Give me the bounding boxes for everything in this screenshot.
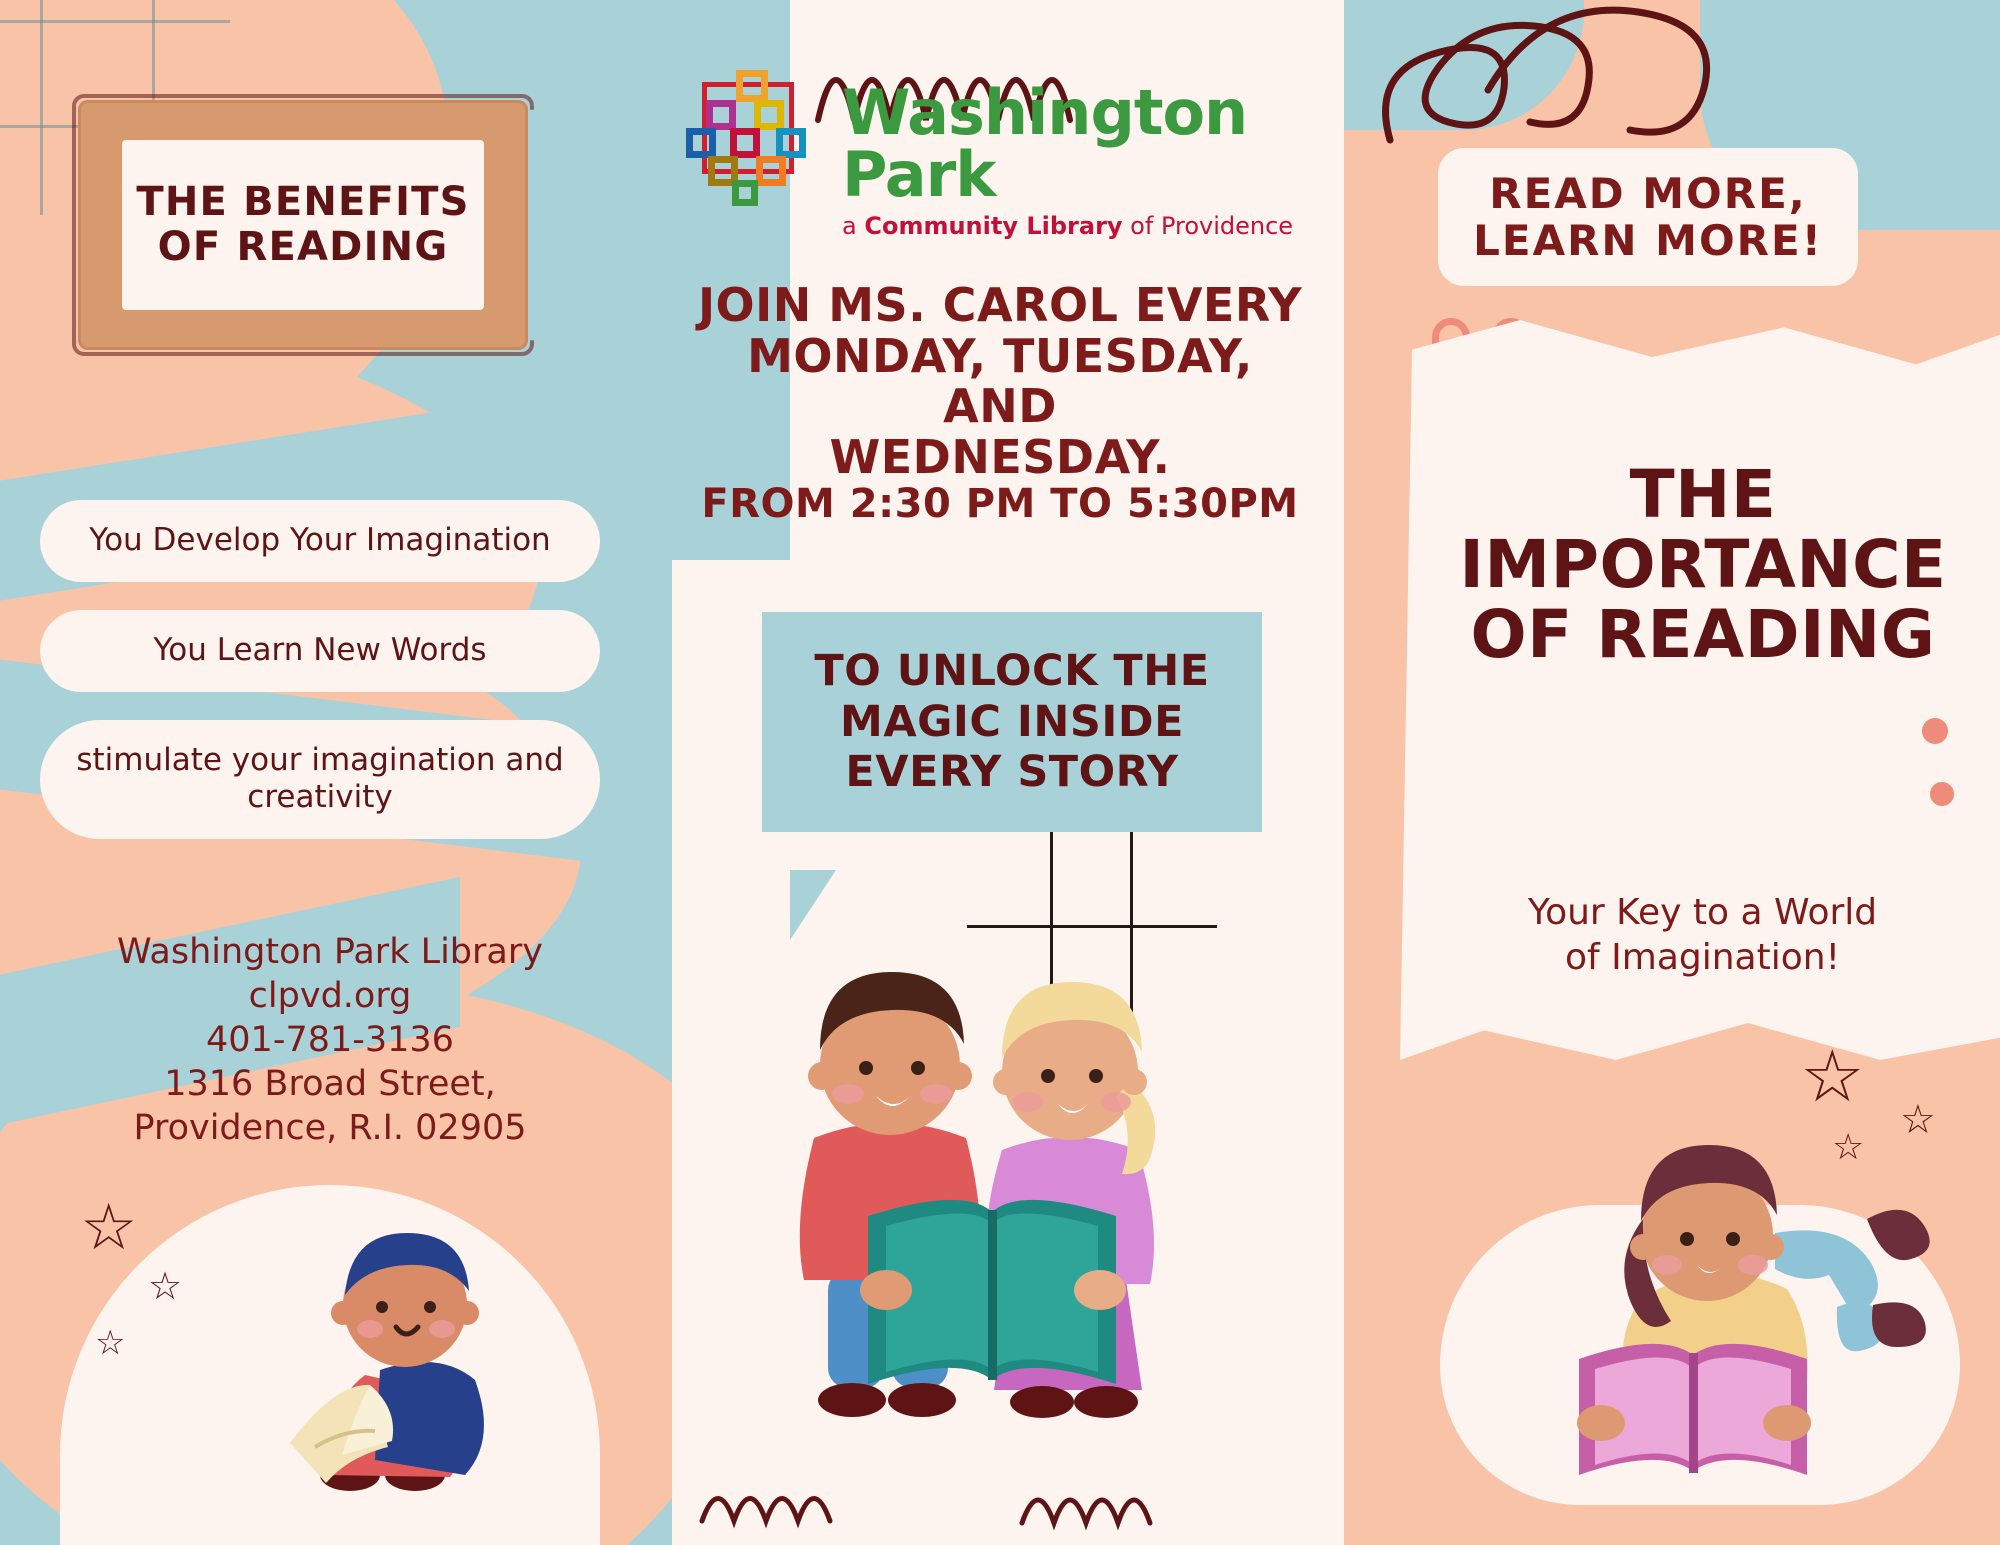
benefits-heading: THE BENEFITS OF READING [136,180,469,270]
brand-tagline: a Community Library of Providence [842,212,1330,240]
accent-dot [1922,718,1948,744]
schedule-block: JOIN MS. CAROL EVERY MONDAY, TUESDAY, AN… [690,280,1310,526]
tagline-bold: Community Library [864,212,1122,240]
read-more-badge: READ MORE, LEARN MORE! [1438,148,1858,286]
importance-heading-line1: THE [1418,460,1988,530]
library-website[interactable]: clpvd.org [40,974,620,1018]
importance-heading: THE IMPORTANCE OF READING [1418,460,1988,670]
library-name: Washington Park Library [40,930,620,974]
benefits-heading-line1: THE BENEFITS [136,180,469,225]
benefit-item: You Learn New Words [40,610,600,692]
tagline-prefix: a [842,212,864,240]
importance-subtitle-line2: of Imagination! [1430,935,1975,980]
mosaic-square [732,180,758,206]
bubble-line-1: TO UNLOCK THE [790,646,1234,697]
mosaic-square [776,128,806,158]
coil-doodle [1360,0,1780,160]
benefit-label: You Learn New Words [153,632,486,670]
schedule-line-1: JOIN MS. CAROL EVERY [690,280,1310,331]
star-icon: ☆ [148,1267,182,1305]
importance-subtitle-line1: Your Key to a World [1430,890,1975,935]
brand-name: Washington Park [842,82,1330,206]
schedule-line-4: FROM 2:30 PM TO 5:30PM [690,482,1310,526]
star-icon: ☆ [1900,1100,1936,1140]
schedule-line-3: WEDNESDAY. [690,432,1310,483]
frame-inner: THE BENEFITS OF READING [122,140,484,310]
mosaic-square [686,128,716,158]
squiggle-doodle [692,1461,1332,1541]
star-icon: ☆ [80,1196,137,1260]
mosaic-square [736,70,768,102]
colored-squares-mosaic-icon [690,70,818,198]
speech-bubble: TO UNLOCK THE MAGIC INSIDE EVERY STORY [762,612,1262,832]
benefit-item: You Develop Your Imagination [40,500,600,582]
tagline-suffix: of Providence [1123,212,1294,240]
benefit-label: stimulate your imagination and creativit… [74,742,566,818]
mosaic-square [754,100,784,130]
girl-reading-on-cloud-illustration [1475,1123,1945,1493]
library-phone[interactable]: 401-781-3136 [40,1018,620,1062]
library-city-state-zip: Providence, R.I. 02905 [40,1106,620,1150]
grid-doodle-line [0,20,230,23]
boy-reading-illustration [230,1175,570,1505]
badge-line-2: LEARN MORE! [1473,216,1823,265]
mosaic-square [730,128,760,158]
schedule-line-2: MONDAY, TUESDAY, AND [690,331,1310,432]
brochure-poster: ☆ ☆ ☆ THE BENEFITS OF READING You Develo… [0,0,2000,1545]
brand-text: Washington Park a Community Library of P… [842,82,1330,240]
grid-doodle-line [40,0,43,215]
mosaic-square [756,156,786,186]
badge-line-1: READ MORE, [1489,169,1807,218]
importance-heading-line3: OF READING [1418,600,1988,670]
benefits-heading-line2: OF READING [136,225,469,270]
accent-dot [1930,782,1954,806]
left-panel: ☆ ☆ ☆ THE BENEFITS OF READING You Develo… [0,0,672,1545]
importance-heading-line2: IMPORTANCE [1418,530,1988,600]
star-icon: ☆ [1832,1130,1864,1166]
benefit-item: stimulate your imagination and creativit… [40,720,600,840]
importance-subtitle: Your Key to a World of Imagination! [1430,890,1975,980]
speech-bubble-text: TO UNLOCK THE MAGIC INSIDE EVERY STORY [790,646,1234,798]
contact-block: Washington Park Library clpvd.org 401-78… [40,930,620,1150]
benefits-list: You Develop Your Imagination You Learn N… [40,500,600,867]
bubble-line-2: MAGIC INSIDE [790,697,1234,748]
library-street: 1316 Broad Street, [40,1062,620,1106]
benefit-label: You Develop Your Imagination [89,522,550,560]
library-logo: Washington Park a Community Library of P… [690,60,1330,220]
bubble-line-3: EVERY STORY [790,747,1234,798]
star-icon: ☆ [1800,1040,1865,1112]
mosaic-square [706,100,736,130]
wooden-frame: THE BENEFITS OF READING [78,100,528,350]
two-children-reading-illustration [710,900,1270,1460]
star-icon: ☆ [95,1326,125,1360]
